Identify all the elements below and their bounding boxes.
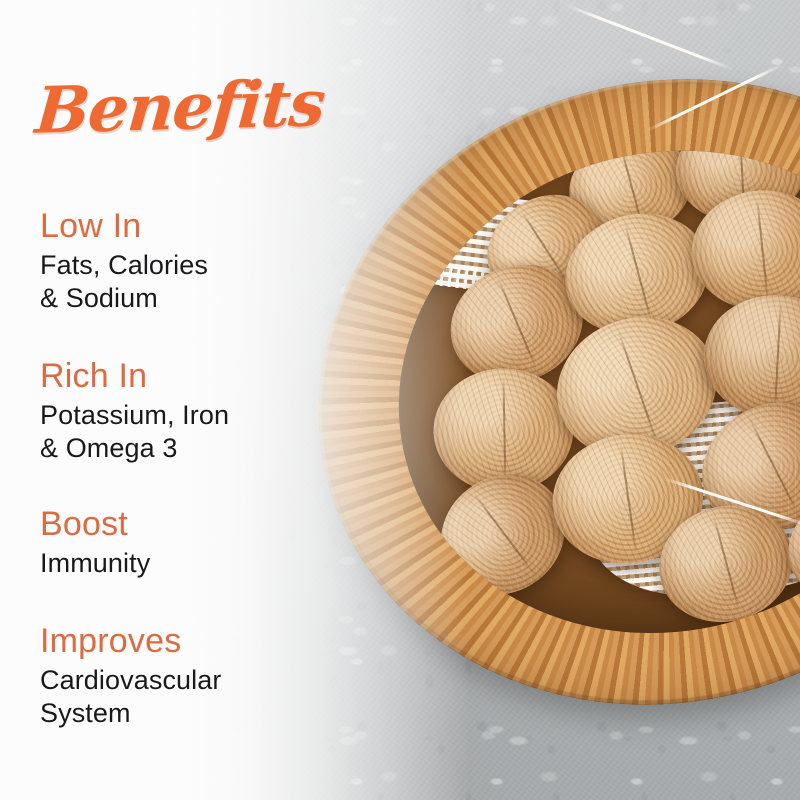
benefit-item-rich-in: Rich In Potassium, Iron & Omega 3 (40, 355, 320, 465)
benefit-line: & Sodium (40, 282, 320, 315)
benefit-description: Fats, Calories & Sodium (40, 249, 320, 315)
benefit-description: Potassium, Iron & Omega 3 (40, 399, 320, 465)
benefit-heading: Improves (40, 620, 320, 662)
benefit-item-boost: Boost Immunity (40, 503, 320, 580)
benefit-item-improves: Improves Cardiovascular System (40, 620, 320, 730)
benefit-line: & Omega 3 (40, 432, 320, 465)
benefit-line: Immunity (40, 547, 320, 580)
benefit-line: Potassium, Iron (40, 399, 320, 432)
benefits-text-column: Benefits Low In Fats, Calories & Sodium … (0, 0, 330, 800)
benefit-item-low-in: Low In Fats, Calories & Sodium (40, 205, 320, 315)
benefit-heading: Rich In (40, 355, 320, 397)
benefit-description: Immunity (40, 547, 320, 580)
benefit-description: Cardiovascular System (40, 664, 320, 730)
page-title: Benefits (33, 66, 327, 149)
benefit-heading: Low In (40, 205, 320, 247)
infographic-canvas: Benefits Low In Fats, Calories & Sodium … (0, 0, 800, 800)
benefits-list: Low In Fats, Calories & Sodium Rich In P… (40, 205, 320, 758)
benefit-heading: Boost (40, 503, 320, 545)
benefit-line: Cardiovascular (40, 664, 320, 697)
benefit-line: Fats, Calories (40, 249, 320, 282)
benefit-line: System (40, 697, 320, 730)
